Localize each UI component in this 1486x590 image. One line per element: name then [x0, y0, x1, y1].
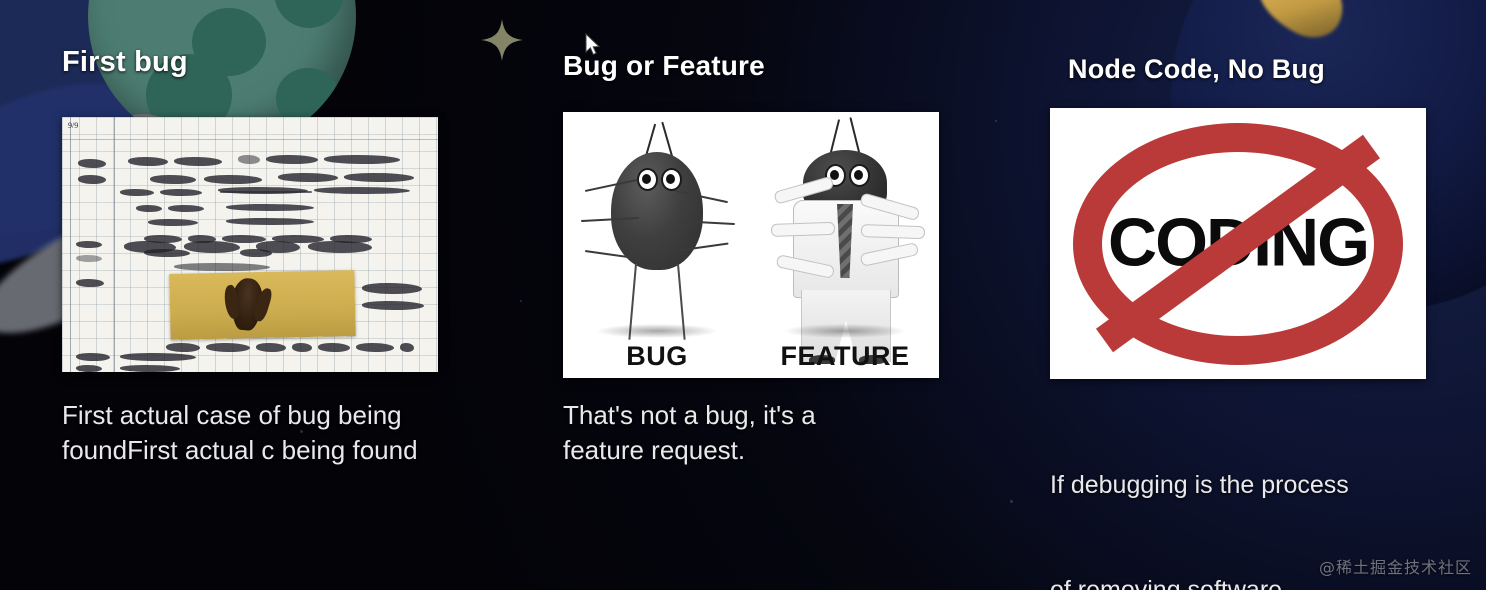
- card-caption-first-bug: First actual case of bug being foundFirs…: [62, 398, 442, 468]
- caption-line: If debugging is the process: [1050, 468, 1450, 503]
- bug-half: BUG: [563, 112, 751, 378]
- logbook-date-label: 9/9: [68, 121, 78, 130]
- image-bug-vs-feature-cartoon[interactable]: BUG: [563, 112, 939, 378]
- bug-feature-illustration: BUG: [563, 112, 939, 378]
- feature-label: FEATURE: [751, 341, 939, 372]
- moth-specimen: [230, 277, 264, 331]
- card-caption-bug-or-feature: That's not a bug, it's a feature request…: [563, 398, 945, 468]
- watermark-text: @稀土掘金技术社区: [1319, 554, 1472, 578]
- tape-strip: [169, 270, 355, 340]
- feature-half: FEATURE: [751, 112, 939, 378]
- arrow-cursor-icon: [585, 33, 601, 57]
- slide-canvas: First bug 9/9: [0, 0, 1486, 590]
- slide-content: First bug 9/9: [0, 0, 1486, 590]
- bug-label: BUG: [563, 341, 751, 372]
- image-no-coding-sign[interactable]: CODING: [1050, 108, 1426, 379]
- card-title-first-bug: First bug: [62, 46, 188, 79]
- logbook-page: 9/9: [62, 117, 438, 372]
- image-logbook-moth-photo[interactable]: 9/9: [62, 117, 438, 372]
- no-coding-illustration: CODING: [1050, 108, 1426, 379]
- card-title-node-code-no-bug: Node Code, No Bug: [1068, 54, 1325, 85]
- plain-bug-body: [611, 152, 703, 270]
